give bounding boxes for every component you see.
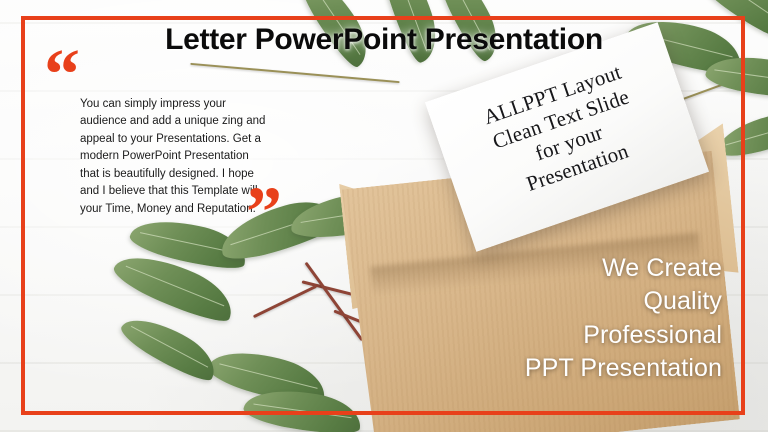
headline-line-3: Professional bbox=[392, 319, 722, 352]
quote-close-mark: ” bbox=[246, 176, 282, 248]
presentation-slide: ALLPPT Layout Clean Text Slide for your … bbox=[0, 0, 768, 432]
headline-line-1: We Create bbox=[392, 252, 722, 285]
quote-body-text: You can simply impress your audience and… bbox=[80, 96, 266, 218]
page-title: Letter PowerPoint Presentation bbox=[0, 23, 768, 57]
headline-line-4: PPT Presentation bbox=[392, 352, 722, 385]
headline-line-2: Quality bbox=[392, 285, 722, 318]
headline-block: We Create Quality Professional PPT Prese… bbox=[392, 252, 722, 385]
